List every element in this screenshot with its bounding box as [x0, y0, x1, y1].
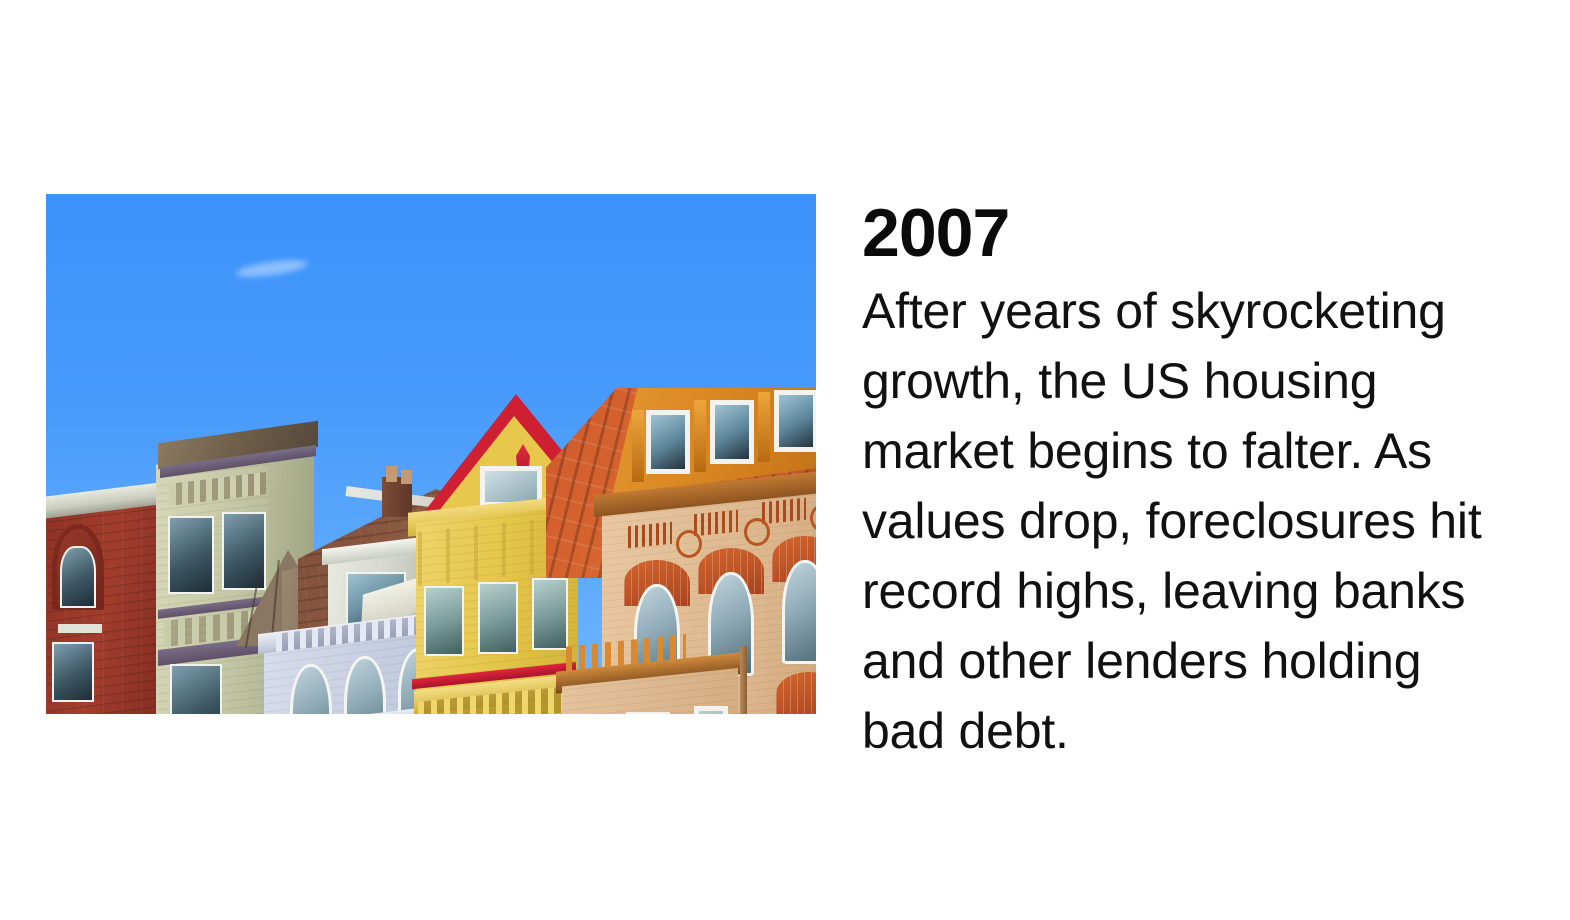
text-column: 2007 After years of skyrocketing growth,… [862, 194, 1510, 766]
year-heading: 2007 [862, 194, 1510, 272]
dormer-pilaster [632, 410, 644, 482]
brick-window-glass [60, 546, 96, 608]
terracotta-wreath [676, 530, 702, 558]
orange-dormer-window-1 [646, 410, 690, 474]
terracotta-vent [628, 522, 672, 549]
terracotta-vent [762, 498, 806, 525]
brick-window-sill [58, 624, 102, 633]
rowhouses-photo [46, 194, 816, 714]
orange-dormer-window-3 [774, 390, 816, 452]
sage-bay-window-left [168, 516, 214, 594]
downspout-pipe [740, 646, 747, 714]
yellow-house-window-1 [424, 586, 464, 656]
tan-arched-window-3 [782, 560, 816, 664]
yellow-house-window-2 [478, 582, 518, 654]
terracotta-vent [694, 510, 738, 537]
orange-dormer-window-2 [710, 400, 754, 464]
tan-bay-window-center [626, 712, 670, 714]
dormer-pilaster [694, 400, 706, 472]
terracotta-wreath [744, 518, 770, 546]
dormer-pilaster [758, 392, 770, 462]
body-paragraph: After years of skyrocketing growth, the … [862, 276, 1510, 766]
brick-lower-window [52, 642, 94, 702]
sage-bay-lower-window [170, 664, 222, 714]
yellow-house-window-3 [532, 578, 568, 650]
chimney-pot [401, 470, 412, 484]
slide-canvas: 2007 After years of skyrocketing growth,… [0, 0, 1570, 920]
chimney-pot [386, 466, 397, 482]
tan-bay-window-side [694, 706, 728, 714]
